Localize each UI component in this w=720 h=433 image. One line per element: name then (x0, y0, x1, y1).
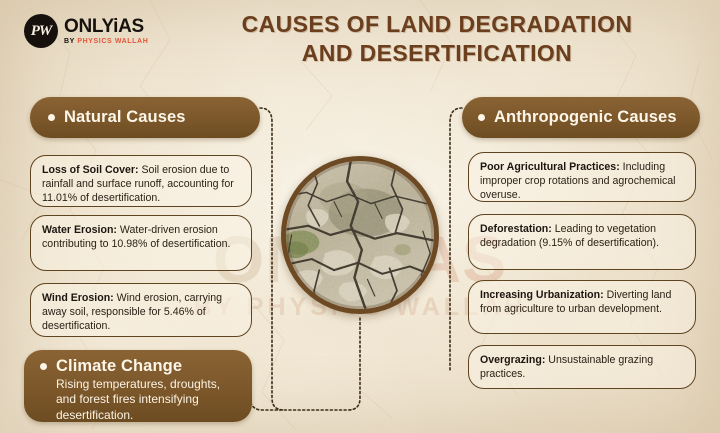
section-heading-natural-causes-label: Natural Causes (64, 108, 186, 127)
card-deforestation-term: Deforestation: (480, 223, 552, 235)
header: PW ONLYiAS BY PHYSICS WALLAH CAUSES OF L… (0, 0, 720, 84)
page-title-line-1: CAUSES OF LAND DEGRADATION (168, 10, 706, 39)
card-loss-of-soil-cover: Loss of Soil Cover: Soil erosion due to … (30, 155, 252, 207)
card-wind-erosion-term: Wind Erosion: (42, 292, 114, 304)
center-image-circle (281, 156, 439, 314)
section-climate-change-heading: Climate Change (40, 357, 182, 376)
card-poor-agricultural-practices-term: Poor Agricultural Practices: (480, 161, 620, 173)
bullet-icon (478, 114, 485, 121)
page-title: CAUSES OF LAND DEGRADATION AND DESERTIFI… (168, 10, 706, 68)
section-heading-anthropogenic-causes[interactable]: Anthropogenic Causes (462, 97, 700, 138)
card-increasing-urbanization-term: Increasing Urbanization: (480, 289, 604, 301)
brand-name: ONLYiAS (64, 17, 148, 36)
cracked-earth-photo (286, 161, 434, 309)
brand-tagline: BY PHYSICS WALLAH (64, 38, 148, 45)
brand-logo[interactable]: PW ONLYiAS BY PHYSICS WALLAH (24, 14, 148, 48)
section-heading-anthropogenic-causes-label: Anthropogenic Causes (494, 108, 677, 127)
section-climate-change-label: Climate Change (56, 357, 182, 376)
card-deforestation: Deforestation: Leading to vegetation deg… (468, 214, 696, 270)
card-increasing-urbanization: Increasing Urbanization: Diverting land … (468, 280, 696, 334)
bullet-icon (40, 363, 47, 370)
connector-circle-to-climate (250, 318, 360, 410)
card-water-erosion-term: Water Erosion: (42, 224, 117, 236)
card-overgrazing: Overgrazing: Unsustainable grazing pract… (468, 345, 696, 389)
pw-badge-icon: PW (24, 14, 58, 48)
center-image-ring (281, 156, 439, 314)
card-loss-of-soil-cover-term: Loss of Soil Cover: (42, 164, 139, 176)
brand-tagline-by: BY (64, 38, 77, 45)
brand-tagline-name: PHYSICS WALLAH (77, 38, 148, 45)
card-overgrazing-term: Overgrazing: (480, 354, 545, 366)
card-wind-erosion: Wind Erosion: Wind erosion, carrying awa… (30, 283, 252, 337)
infographic-root: ONLYIAS BY PHYSICS WALLAH PW ONLYiAS BY … (0, 0, 720, 433)
bullet-icon (48, 114, 55, 121)
brand-logo-text: ONLYiAS BY PHYSICS WALLAH (64, 17, 148, 45)
section-heading-natural-causes[interactable]: Natural Causes (30, 97, 260, 138)
section-climate-change[interactable]: Climate Change Rising temperatures, drou… (24, 350, 252, 422)
card-water-erosion: Water Erosion: Water-driven erosion cont… (30, 215, 252, 271)
section-climate-change-text: Rising temperatures, droughts, and fores… (40, 377, 236, 423)
page-title-line-2: AND DESERTIFICATION (168, 39, 706, 68)
connector-anthro-branch (450, 108, 462, 372)
card-poor-agricultural-practices: Poor Agricultural Practices: Including i… (468, 152, 696, 202)
